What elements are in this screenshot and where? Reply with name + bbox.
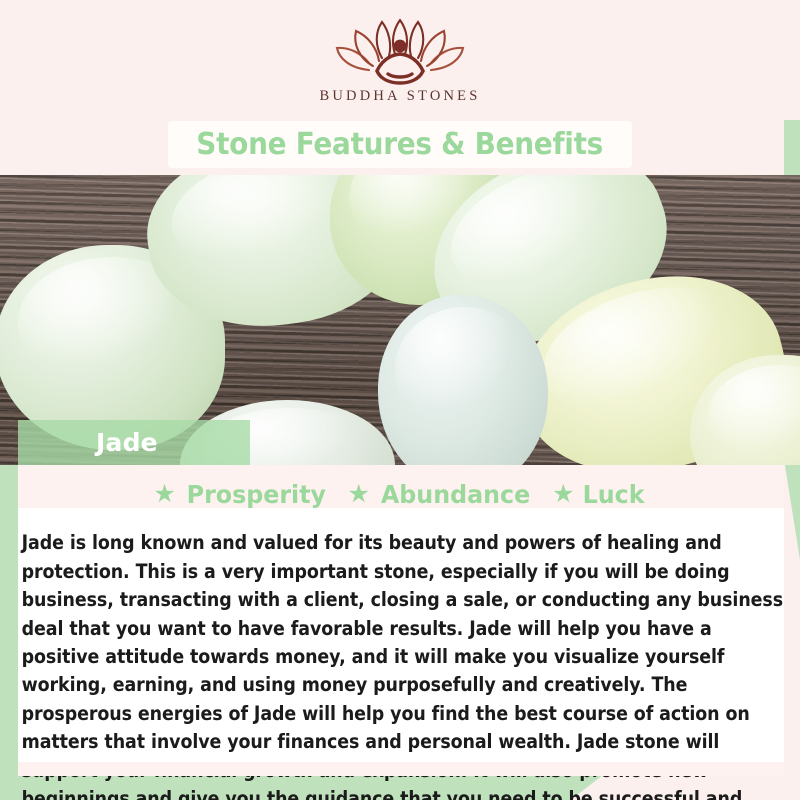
keyword-item: ★ Luck [552, 480, 647, 509]
stone-info-card: BUDDHA STONES Stone Features & Benefits … [0, 0, 800, 800]
panel-bottom-edge [18, 762, 784, 776]
brand-logo: BUDDHA STONES [0, 14, 800, 105]
stone-name-label: Jade [96, 428, 158, 457]
brand-name: BUDDHA STONES [0, 88, 800, 105]
keyword-list: ★ Prosperity ★ Abundance ★ Luck [0, 480, 800, 509]
star-icon: ★ [552, 482, 574, 507]
lotus-meditation-icon [0, 14, 800, 86]
keyword-item: ★ Prosperity [153, 480, 329, 509]
keyword-item: ★ Abundance [347, 480, 534, 509]
stone-name-band: Jade [18, 420, 250, 465]
star-icon: ★ [153, 482, 175, 507]
page-title: Stone Features & Benefits [197, 130, 604, 160]
description-panel: Jade is long known and valued for its be… [18, 508, 784, 770]
description-text: Jade is long known and valued for its be… [18, 527, 784, 800]
keyword-label: Luck [583, 480, 645, 509]
keyword-label: Prosperity [186, 480, 325, 509]
keyword-label: Abundance [381, 480, 530, 509]
card-header: BUDDHA STONES [0, 0, 800, 120]
title-banner: Stone Features & Benefits [168, 121, 632, 168]
star-icon: ★ [347, 482, 369, 507]
